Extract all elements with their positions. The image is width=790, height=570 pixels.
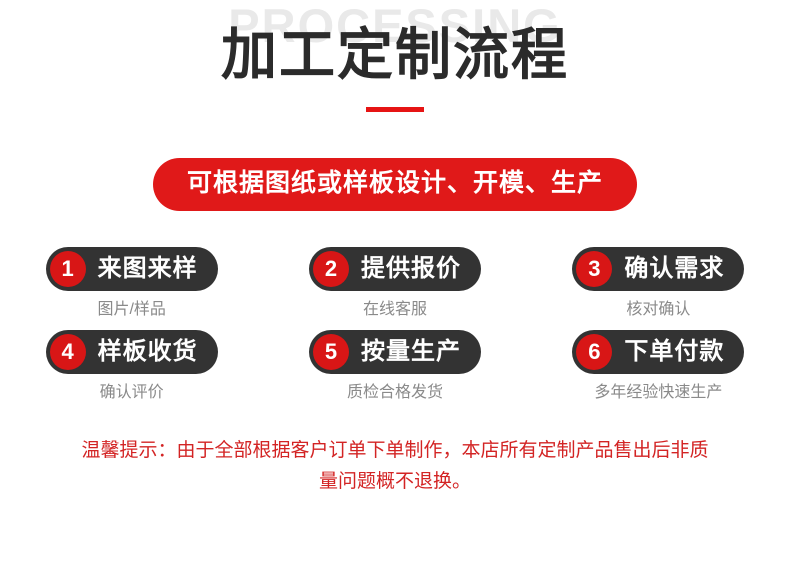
title-underline — [366, 107, 424, 112]
banner-container: 可根据图纸或样板设计、开模、生产 — [0, 158, 790, 211]
step-pill: 5 按量生产 — [309, 330, 481, 374]
step-subtitle: 质检合格发货 — [271, 385, 518, 401]
step-subtitle: 核对确认 — [535, 302, 782, 318]
step-subtitle: 多年经验快速生产 — [535, 385, 782, 401]
step-title: 按量生产 — [361, 340, 461, 364]
step-title: 确认需求 — [624, 257, 724, 281]
step-number-badge: 4 — [50, 334, 86, 370]
page-title: 加工定制流程 — [0, 24, 790, 86]
step-pill: 6 下单付款 — [572, 330, 744, 374]
step-title: 提供报价 — [361, 257, 461, 281]
process-step-6: 6 下单付款 多年经验快速生产 — [527, 330, 790, 401]
process-step-1: 1 来图来样 图片/样品 — [0, 247, 263, 318]
step-number-badge: 6 — [576, 334, 612, 370]
process-step-4: 4 样板收货 确认评价 — [0, 330, 263, 401]
step-pill: 4 样板收货 — [46, 330, 218, 374]
step-title: 来图来样 — [98, 257, 198, 281]
step-subtitle: 确认评价 — [8, 385, 255, 401]
page-header: PROCESSING 加工定制流程 — [0, 0, 790, 130]
process-step-2: 2 提供报价 在线客服 — [263, 247, 526, 318]
step-number-badge: 1 — [50, 251, 86, 287]
step-pill: 1 来图来样 — [46, 247, 218, 291]
step-title: 样板收货 — [98, 340, 198, 364]
process-steps-grid: 1 来图来样 图片/样品 2 提供报价 在线客服 3 确认需求 核对确认 4 样… — [0, 247, 790, 401]
step-subtitle: 在线客服 — [271, 302, 518, 318]
process-step-3: 3 确认需求 核对确认 — [527, 247, 790, 318]
step-number-badge: 5 — [313, 334, 349, 370]
step-title: 下单付款 — [624, 340, 724, 364]
step-pill: 3 确认需求 — [572, 247, 744, 291]
capability-banner: 可根据图纸或样板设计、开模、生产 — [153, 158, 637, 211]
step-pill: 2 提供报价 — [309, 247, 481, 291]
step-number-badge: 3 — [576, 251, 612, 287]
step-number-badge: 2 — [313, 251, 349, 287]
process-step-5: 5 按量生产 质检合格发货 — [263, 330, 526, 401]
step-subtitle: 图片/样品 — [8, 302, 255, 318]
return-policy-notice: 温馨提示：由于全部根据客户订单下单制作，本店所有定制产品售出后非质量问题概不退换… — [0, 435, 790, 498]
